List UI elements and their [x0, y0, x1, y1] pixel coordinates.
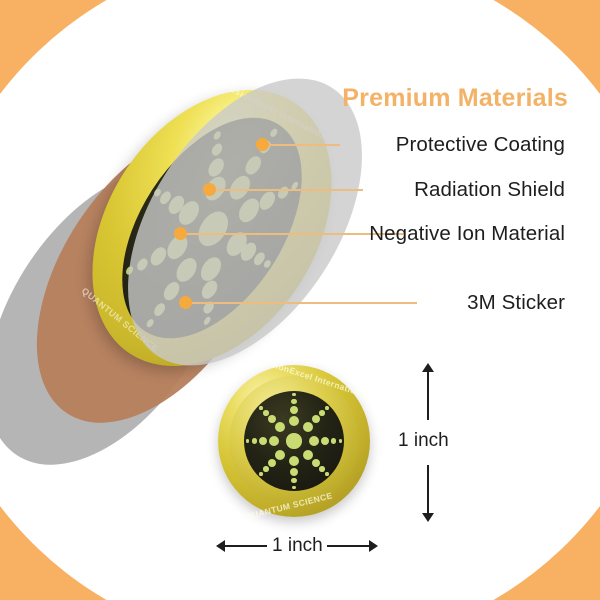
coin-face-dot — [319, 410, 325, 416]
coin-face-dot — [275, 422, 286, 433]
callout-dot-protective-coating[interactable] — [256, 138, 269, 151]
coin-face-dot — [292, 486, 296, 490]
callout-label-negative-ion-material: Negative Ion Material — [315, 221, 565, 246]
callout-label-radiation-shield: Radiation Shield — [414, 177, 565, 202]
coin-face-dot — [291, 478, 297, 484]
coin-face-dot — [321, 437, 329, 445]
coin-face-dot — [259, 472, 263, 476]
callout-dot-negative-ion-material[interactable] — [174, 227, 187, 240]
coin-face-dot — [259, 437, 267, 445]
coin-face-dot — [289, 456, 300, 467]
coin-face-dot — [289, 416, 300, 427]
coin-face-dot — [268, 415, 276, 423]
coin-face-dot — [325, 406, 329, 410]
coin-face-dot — [303, 422, 314, 433]
coin-face-dot — [252, 438, 258, 444]
callout-label-3m-sticker: 3M Sticker — [467, 290, 565, 315]
coin-face-dot — [275, 450, 286, 461]
coin-face-dot — [309, 436, 320, 447]
coin-face-dot — [290, 406, 298, 414]
coin-face-dot — [291, 399, 297, 405]
callout-line-3m-sticker — [189, 302, 417, 304]
product-coin: FusionExcel International QUANTUM SCIENC… — [218, 365, 370, 517]
coin-face-dot — [268, 459, 276, 467]
coin-face-dot — [325, 472, 329, 476]
dimension-line-horizontal-left — [225, 545, 267, 547]
callout-line-radiation-shield — [213, 189, 363, 191]
dimension-arrow-down-icon — [422, 513, 434, 522]
callout-dot-3m-sticker[interactable] — [179, 296, 192, 309]
dimension-arrow-left-icon — [216, 540, 225, 552]
callout-dot-radiation-shield[interactable] — [203, 183, 216, 196]
coin-face-dot — [246, 439, 250, 443]
dimension-arrow-right-icon — [369, 540, 378, 552]
coin-face — [244, 391, 344, 491]
coin-face-dot — [269, 436, 280, 447]
page-title: Premium Materials — [0, 84, 568, 113]
coin-face-dot — [331, 438, 337, 444]
dimension-line-horizontal-right — [327, 545, 369, 547]
coin-face-dot — [292, 393, 296, 397]
coin-face-dot — [312, 415, 320, 423]
coin-face-dot — [263, 466, 269, 472]
dimension-line-vertical-lower — [427, 465, 429, 513]
dimension-arrow-up-icon — [422, 363, 434, 372]
dimension-label-width: 1 inch — [272, 535, 323, 557]
callout-label-protective-coating: Protective Coating — [396, 132, 565, 157]
dimension-line-vertical-upper — [427, 372, 429, 420]
coin-face-dot — [312, 459, 320, 467]
coin-face-dot — [303, 450, 314, 461]
callout-line-protective-coating — [266, 144, 340, 146]
coin-face-dot — [286, 433, 302, 449]
coin-face-dot — [339, 439, 343, 443]
infographic-canvas: FusionExcel International QUANTUM SCIENC… — [0, 0, 600, 600]
coin-face-dot — [263, 410, 269, 416]
dimension-label-height: 1 inch — [398, 430, 449, 452]
coin-face-dot — [290, 468, 298, 476]
coin-face-dot — [259, 406, 263, 410]
coin-face-dot — [319, 466, 325, 472]
